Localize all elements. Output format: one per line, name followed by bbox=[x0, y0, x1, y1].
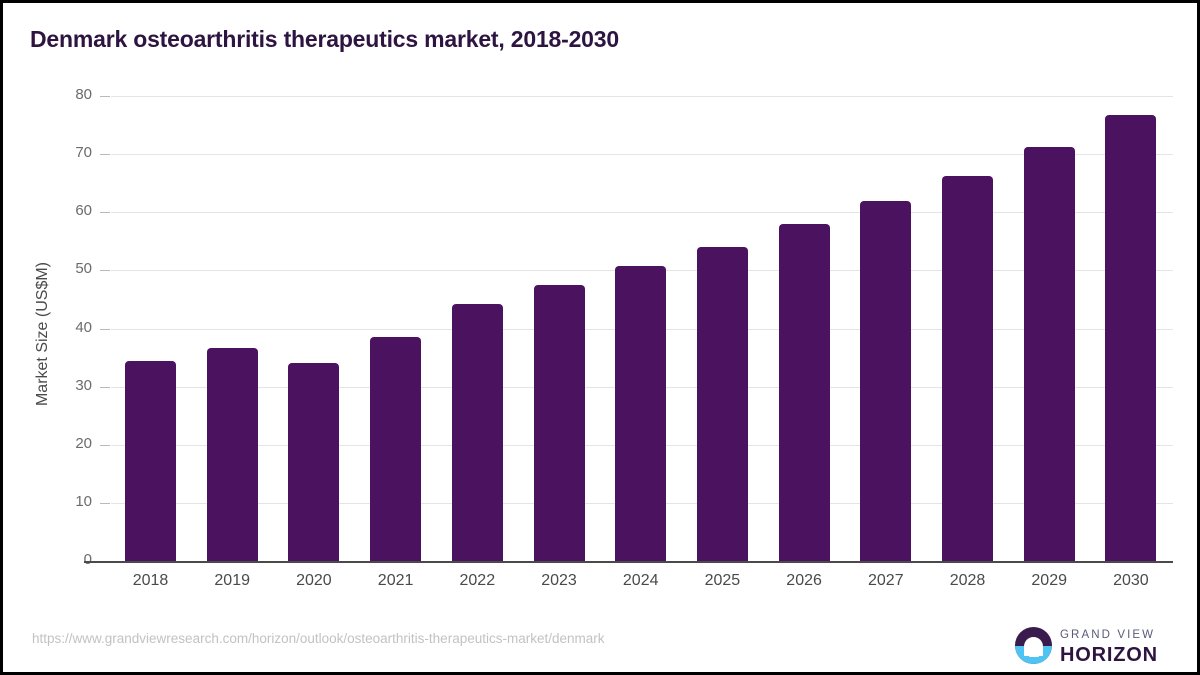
x-tick-label: 2029 bbox=[1008, 572, 1090, 590]
bar[interactable] bbox=[534, 285, 585, 561]
bar[interactable] bbox=[288, 363, 339, 561]
x-tick-label: 2023 bbox=[518, 572, 600, 590]
y-axis-label: Market Size (US$M) bbox=[34, 124, 52, 544]
y-tick-mark bbox=[100, 270, 110, 271]
y-tick-label: 60 bbox=[20, 202, 92, 219]
y-tick-label: 20 bbox=[20, 435, 92, 452]
y-tick-label: 70 bbox=[20, 144, 92, 161]
bar[interactable] bbox=[125, 361, 176, 561]
source-url[interactable]: https://www.grandviewresearch.com/horizo… bbox=[32, 631, 605, 646]
logo-ray-1 bbox=[1026, 651, 1041, 653]
bar[interactable] bbox=[1024, 147, 1075, 561]
y-tick-label: 40 bbox=[20, 319, 92, 336]
y-tick-label: 30 bbox=[20, 377, 92, 394]
y-tick-label: 10 bbox=[20, 493, 92, 510]
gridline bbox=[111, 154, 1173, 155]
y-tick-mark bbox=[100, 154, 110, 155]
x-axis-line bbox=[84, 561, 1173, 563]
x-tick-label: 2025 bbox=[681, 572, 763, 590]
logo-brand-top: GRAND VIEW bbox=[1060, 629, 1155, 641]
y-tick-mark bbox=[100, 329, 110, 330]
plot-area: 01020304050607080 Market Size (US$M) 201… bbox=[3, 3, 1197, 672]
x-tick-label: 2028 bbox=[927, 572, 1009, 590]
grand-view-horizon-logo: GRAND VIEW HORIZON bbox=[1015, 623, 1167, 667]
x-tick-label: 2019 bbox=[191, 572, 273, 590]
bar[interactable] bbox=[1105, 115, 1156, 561]
bar[interactable] bbox=[615, 266, 666, 561]
y-tick-label: 80 bbox=[20, 86, 92, 103]
bar[interactable] bbox=[452, 304, 503, 561]
bar[interactable] bbox=[370, 337, 421, 561]
bar[interactable] bbox=[207, 348, 258, 561]
horizon-sun-icon bbox=[1015, 627, 1052, 664]
x-tick-label: 2020 bbox=[273, 572, 355, 590]
y-tick-mark bbox=[100, 212, 110, 213]
logo-brand-bottom: HORIZON bbox=[1060, 644, 1158, 667]
chart-canvas: Denmark osteoarthritis therapeutics mark… bbox=[3, 3, 1197, 672]
y-tick-mark bbox=[100, 503, 110, 504]
x-tick-label: 2026 bbox=[763, 572, 845, 590]
bar[interactable] bbox=[860, 201, 911, 561]
x-tick-label: 2030 bbox=[1090, 572, 1172, 590]
gridline bbox=[111, 96, 1173, 97]
gridline bbox=[111, 212, 1173, 213]
y-tick-label: 0 bbox=[20, 551, 92, 568]
y-tick-mark bbox=[100, 96, 110, 97]
y-tick-mark bbox=[100, 387, 110, 388]
y-tick-mark bbox=[100, 445, 110, 446]
x-tick-label: 2018 bbox=[110, 572, 192, 590]
x-tick-label: 2027 bbox=[845, 572, 927, 590]
x-tick-label: 2024 bbox=[600, 572, 682, 590]
x-tick-label: 2022 bbox=[436, 572, 518, 590]
bar[interactable] bbox=[697, 247, 748, 561]
x-tick-label: 2021 bbox=[355, 572, 437, 590]
bar[interactable] bbox=[779, 224, 830, 561]
logo-ray-2 bbox=[1029, 655, 1039, 657]
bar[interactable] bbox=[942, 176, 993, 561]
y-tick-label: 50 bbox=[20, 260, 92, 277]
